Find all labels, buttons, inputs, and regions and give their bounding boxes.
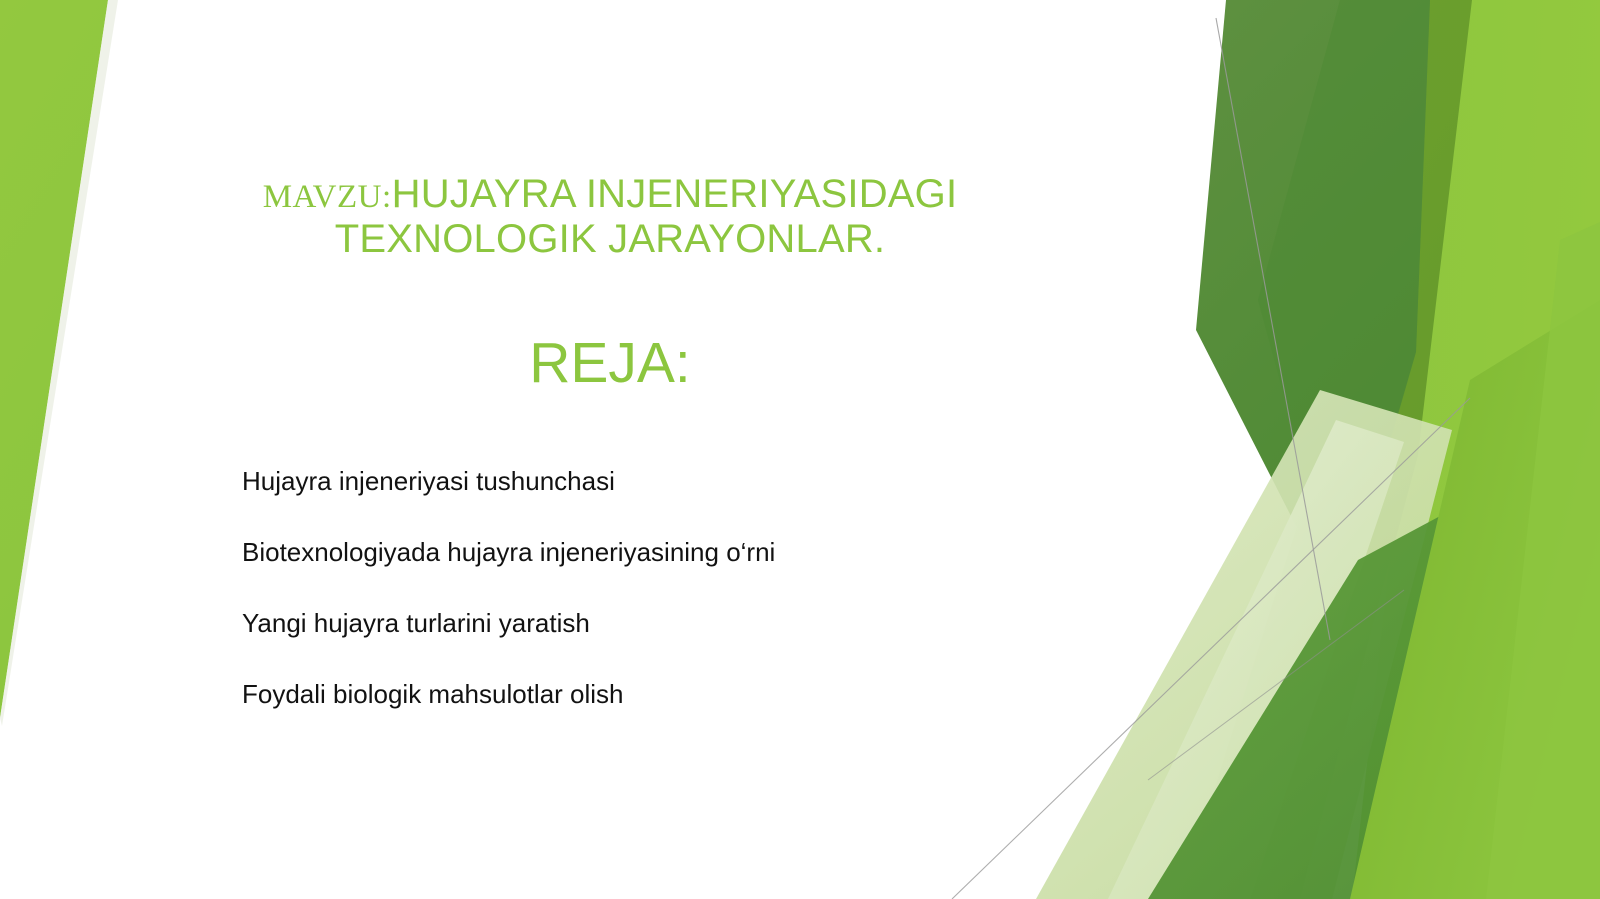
list-item: Biotexnologiyada hujayra injeneriyasinin… — [242, 539, 1082, 565]
slide-title: MAVZU:HUJAYRA INJENERIYASIDAGI TEXNOLOGI… — [140, 172, 1080, 262]
title-main: HUJAYRA INJENERIYASIDAGI TEXNOLOGIK JARA… — [335, 172, 958, 261]
presentation-slide: MAVZU:HUJAYRA INJENERIYASIDAGI TEXNOLOGI… — [0, 0, 1600, 899]
agenda-list: Hujayra injeneriyasi tushunchasi Biotexn… — [242, 468, 1082, 707]
list-item: Foydali biologik mahsulotlar olish — [242, 681, 1082, 707]
list-item: Hujayra injeneriyasi tushunchasi — [242, 468, 1082, 494]
list-item: Yangi hujayra turlarini yaratish — [242, 610, 1082, 636]
reja-heading: REJA: — [140, 334, 1080, 394]
title-prefix: MAVZU: — [263, 179, 392, 215]
slide-content: MAVZU:HUJAYRA INJENERIYASIDAGI TEXNOLOGI… — [0, 0, 1600, 899]
